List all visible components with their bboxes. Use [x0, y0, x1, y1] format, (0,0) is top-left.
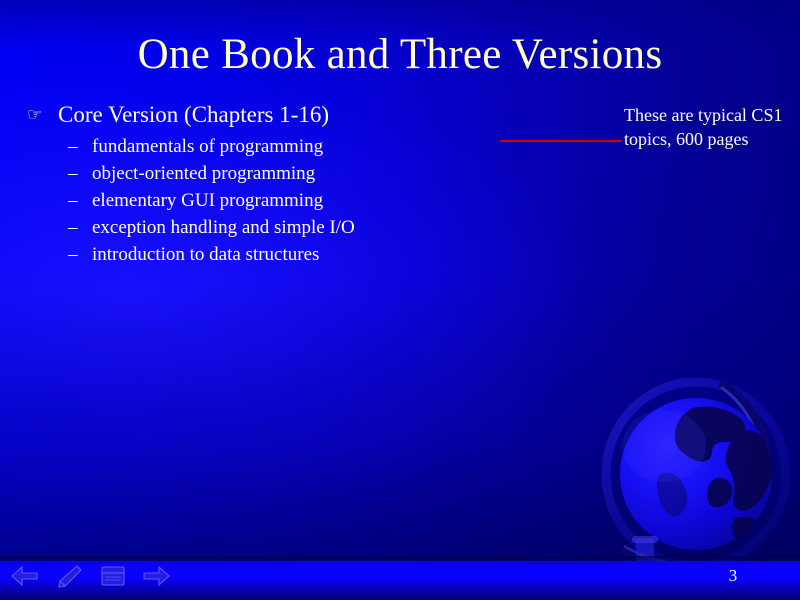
callout-text: These are typical CS1 topics, 600 pages [624, 103, 800, 151]
list-item-label: elementary GUI programming [92, 187, 474, 214]
list-item: – object-oriented programming [24, 160, 474, 187]
dash-bullet-icon: – [68, 133, 92, 160]
list-item: ☞ Core Version (Chapters 1-16) [24, 100, 474, 130]
next-slide-arrow-icon[interactable] [142, 564, 172, 588]
list-item: – fundamentals of programming [24, 133, 474, 160]
dash-bullet-icon: – [68, 160, 92, 187]
dash-bullet-icon: – [68, 241, 92, 268]
presentation-slide: One Book and Three Versions ☞ Core Versi… [0, 0, 800, 600]
list-item: – exception handling and simple I/O [24, 214, 474, 241]
list-item-label: exception handling and simple I/O [92, 214, 474, 241]
slide-window-icon[interactable] [98, 564, 128, 588]
list-item-label: Core Version (Chapters 1-16) [58, 100, 474, 130]
slide-title: One Book and Three Versions [0, 29, 800, 81]
slideshow-navigation-bar[interactable] [10, 563, 172, 589]
list-item-label: introduction to data structures [92, 241, 474, 268]
previous-slide-arrow-icon[interactable] [10, 564, 40, 588]
dash-bullet-icon: – [68, 214, 92, 241]
pointing-hand-bullet-icon: ☞ [24, 100, 58, 130]
callout-leader-line [500, 140, 622, 142]
globe-icon [596, 378, 800, 578]
pen-annotate-icon[interactable] [54, 564, 84, 588]
page-number: 3 [718, 565, 748, 587]
list-item: – introduction to data structures [24, 241, 474, 268]
list-item-label: object-oriented programming [92, 160, 474, 187]
bullet-list: ☞ Core Version (Chapters 1-16) – fundame… [24, 100, 474, 268]
dash-bullet-icon: – [68, 187, 92, 214]
list-item-label: fundamentals of programming [92, 133, 474, 160]
list-item: – elementary GUI programming [24, 187, 474, 214]
